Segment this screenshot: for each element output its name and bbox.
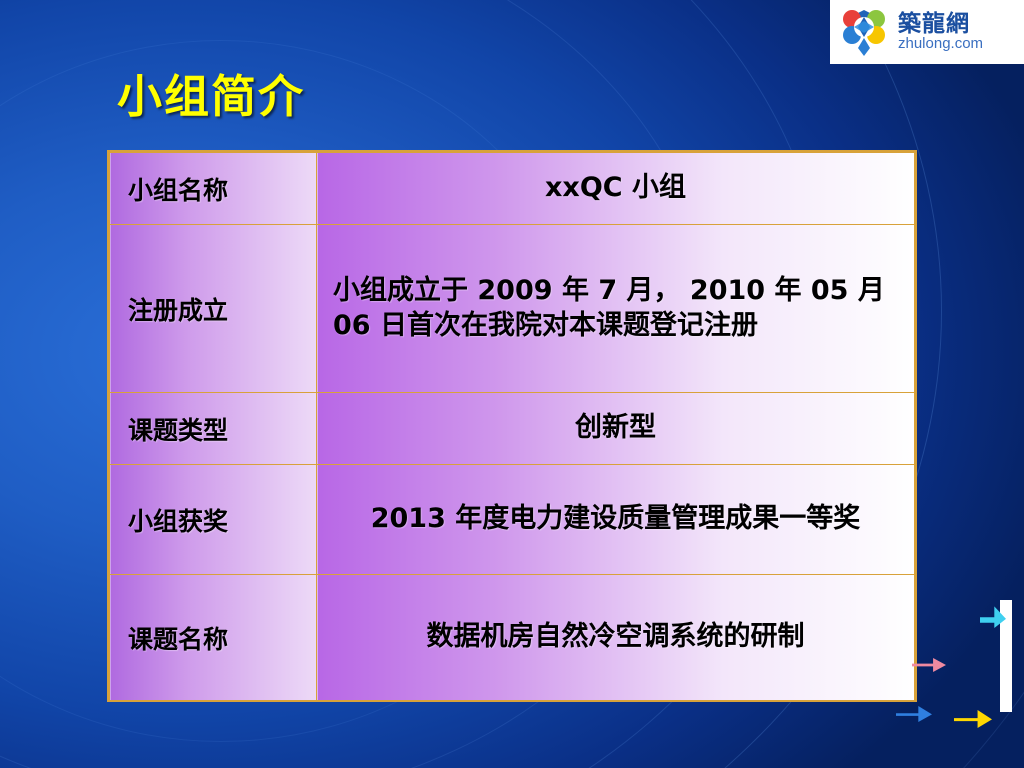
yellow-arrow-icon (954, 710, 992, 728)
table-row: 注册成立 小组成立于 2009 年 7 月， 2010 年 05 月 06 日首… (110, 225, 915, 393)
slide-canvas: 築龍網 zhulong.com 小组简介 小组名称 xxQC 小组 注册成立 小… (0, 0, 1024, 768)
white-bar-decoration (1000, 600, 1012, 712)
table-row: 小组名称 xxQC 小组 (110, 153, 915, 225)
brand-logo: 築龍網 zhulong.com (830, 0, 1024, 64)
page-title: 小组简介 (117, 60, 305, 125)
row-label-team-name: 小组名称 (110, 153, 317, 225)
brand-logo-text: 築龍網 zhulong.com (898, 12, 983, 52)
table-row: 课题类型 创新型 (110, 393, 915, 465)
row-label-registration: 注册成立 (110, 225, 317, 393)
table-row: 小组获奖 2013 年度电力建设质量管理成果一等奖 (110, 465, 915, 575)
row-label-topic-name: 课题名称 (110, 575, 317, 701)
table-row: 课题名称 数据机房自然冷空调系统的研制 (110, 575, 915, 701)
row-value-registration: 小组成立于 2009 年 7 月， 2010 年 05 月 06 日首次在我院对… (317, 225, 915, 393)
blue-arrow-icon (896, 706, 932, 722)
row-value-topic-name: 数据机房自然冷空调系统的研制 (317, 575, 915, 701)
pink-arrow-icon (912, 658, 946, 672)
brand-name-en: zhulong.com (898, 36, 983, 52)
row-value-awards: 2013 年度电力建设质量管理成果一等奖 (317, 465, 915, 575)
brand-name-cn: 築龍網 (898, 12, 983, 36)
row-value-topic-type: 创新型 (317, 393, 915, 465)
team-info-table: 小组名称 xxQC 小组 注册成立 小组成立于 2009 年 7 月， 2010… (107, 150, 917, 702)
cyan-arrow-icon (980, 604, 1006, 628)
row-value-team-name: xxQC 小组 (317, 153, 915, 225)
row-label-awards: 小组获奖 (110, 465, 317, 575)
row-label-topic-type: 课题类型 (110, 393, 317, 465)
zhulong-flower-logo-icon (836, 4, 892, 60)
